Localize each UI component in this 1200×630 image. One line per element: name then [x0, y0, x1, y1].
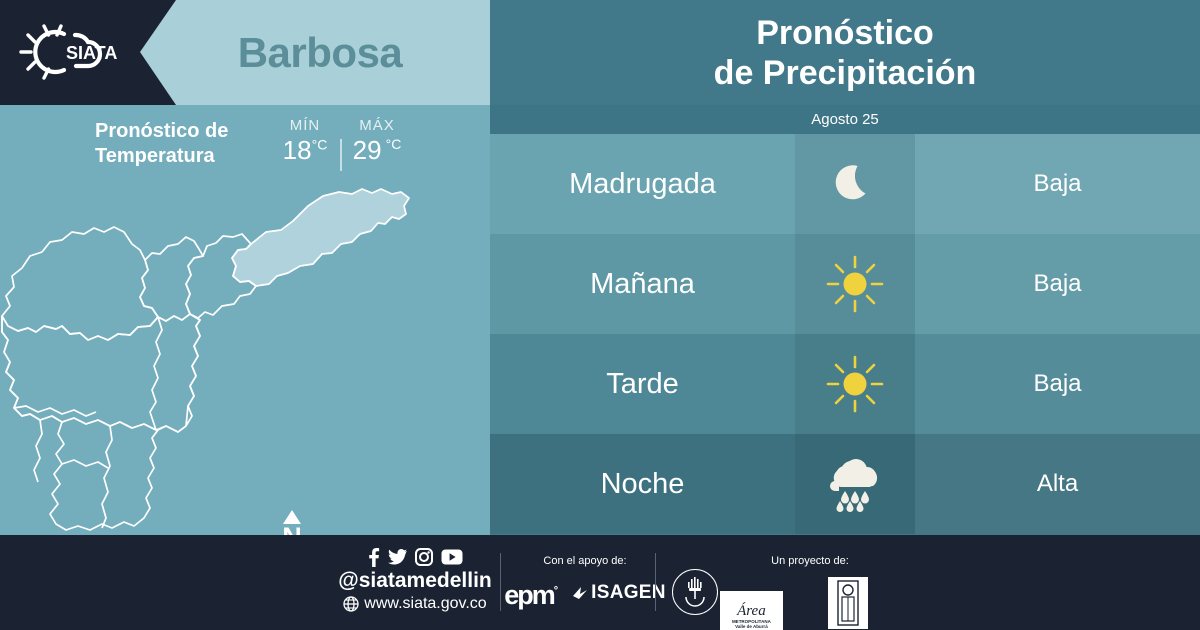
- temperature-title: Pronóstico de Temperatura: [95, 119, 275, 169]
- temperature-min-value-wrap: 18°C: [276, 135, 334, 166]
- footer-divider-1: [500, 553, 501, 611]
- page-title: Barbosa: [150, 0, 490, 105]
- row-probability: Baja: [915, 134, 1200, 234]
- row-period-label: Madrugada: [490, 134, 795, 234]
- map-internal-line-4: [34, 420, 42, 482]
- row-icon-cell: [795, 134, 915, 234]
- rain-icon: [823, 453, 887, 515]
- globe-icon: [343, 596, 359, 612]
- map-region-itagui: [2, 316, 62, 422]
- seal-inner-icon: [673, 570, 717, 614]
- sun-icon: [824, 353, 886, 415]
- alcaldia-crest-inner: [828, 577, 868, 629]
- website-label: www.siata.gov.co: [364, 594, 486, 614]
- udem-seal-block: [665, 555, 725, 615]
- siata-logo-text: SIATA: [66, 43, 117, 63]
- map-internal-line-2: [62, 418, 156, 430]
- sun-arc: [35, 32, 64, 72]
- map-region-bello: [2, 227, 158, 340]
- moon-icon: [826, 155, 884, 213]
- amva-label: Área: [737, 604, 766, 619]
- map-internal-line-7: [150, 317, 162, 430]
- footer-divider-2: [655, 553, 656, 611]
- table-row: Madrugada Baja: [490, 134, 1200, 234]
- support-logos: epm° ISAGEN: [505, 577, 665, 609]
- precipitation-panel: Pronóstico de Precipitación Agosto 25 Ma…: [490, 0, 1200, 535]
- row-icon-cell: [795, 334, 915, 434]
- precipitation-title-line1: Pronóstico: [756, 13, 934, 53]
- social-block: @siatamedellin www.siata.gov.co: [330, 547, 500, 614]
- temperature-title-line1: Pronóstico de: [95, 120, 228, 142]
- social-icons: [330, 547, 500, 567]
- north-arrow: N: [277, 510, 307, 535]
- alcaldia-crest-icon: [828, 577, 868, 629]
- temperature-title-line2: Temperatura: [95, 145, 215, 167]
- isagen-mark-icon: [572, 585, 588, 601]
- temperature-min-unit: °C: [312, 136, 328, 152]
- forecast-table: Madrugada Baja Mañana: [490, 134, 1200, 535]
- aburra-valley-map: N: [0, 180, 470, 535]
- website-row[interactable]: www.siata.gov.co: [330, 594, 500, 614]
- footer: @siatamedellin www.siata.gov.co Con el a…: [0, 535, 1200, 630]
- left-panel: SIATA Barbosa Pronóstico de Temperatura …: [0, 0, 490, 535]
- support-block: Con el apoyo de: epm° ISAGEN: [505, 555, 665, 609]
- map-internal-line-6: [186, 314, 200, 426]
- precipitation-header: Pronóstico de Precipitación: [490, 0, 1200, 105]
- table-row: Mañana: [490, 234, 1200, 334]
- temperature-min-value: 18: [283, 135, 312, 165]
- row-period-label: Tarde: [490, 334, 795, 434]
- temperature-max-value-wrap: 29°C: [348, 135, 406, 166]
- map-region-copacabana: [140, 237, 203, 321]
- project-title: Un proyecto de:: [720, 555, 900, 567]
- temperature-divider: [340, 139, 342, 171]
- project-block: Un proyecto de: Área METROPOLITANA Valle…: [720, 555, 900, 630]
- epm-label: epm: [504, 580, 554, 610]
- table-row: Noche: [490, 434, 1200, 534]
- sun-icon: [824, 253, 886, 315]
- north-arrow-label: N: [277, 524, 307, 535]
- temperature-max-label: MÁX: [348, 117, 406, 134]
- temperature-max: MÁX 29°C: [348, 117, 406, 166]
- map-svg: [0, 180, 470, 535]
- temperature-min-label: MÍN: [276, 117, 334, 134]
- forecast-date: Agosto 25: [490, 105, 1200, 134]
- temperature-max-unit: °C: [386, 136, 402, 152]
- epm-sup: °: [554, 585, 558, 597]
- row-probability: Alta: [915, 434, 1200, 534]
- map-internal-line-1: [102, 426, 112, 528]
- precipitation-title-line2: de Precipitación: [714, 53, 977, 93]
- facebook-icon[interactable]: [367, 548, 380, 567]
- universidad-de-medellin-seal-icon: [672, 569, 718, 615]
- row-period-label: Noche: [490, 434, 795, 534]
- weather-forecast-infographic: SIATA Barbosa Pronóstico de Temperatura …: [0, 0, 1200, 630]
- row-period-label: Mañana: [490, 234, 795, 334]
- twitter-icon[interactable]: [388, 549, 407, 566]
- map-boundary-south-a: [50, 422, 186, 530]
- epm-logo: epm°: [504, 577, 558, 609]
- social-handle[interactable]: @siatamedellin: [330, 568, 500, 594]
- row-probability: Baja: [915, 234, 1200, 334]
- row-icon-cell: [795, 234, 915, 334]
- row-probability: Baja: [915, 334, 1200, 434]
- area-metropolitana-logo: Área METROPOLITANA Valle de Aburrá: [720, 591, 783, 630]
- amva-sub2: Valle de Aburrá: [735, 624, 768, 629]
- support-title: Con el apoyo de:: [505, 555, 665, 567]
- siata-logo-arrow-tip: [140, 0, 176, 105]
- sun-cloud-icon: SIATA: [14, 18, 132, 86]
- instagram-icon[interactable]: [415, 548, 433, 566]
- temperature-block: Pronóstico de Temperatura MÍN 18°C MÁX 2…: [0, 105, 490, 190]
- temperature-max-value: 29: [353, 135, 382, 165]
- youtube-icon[interactable]: [441, 549, 463, 565]
- map-internal-line-5: [62, 460, 108, 468]
- project-logos: Área METROPOLITANA Valle de Aburrá Alcal…: [720, 577, 900, 630]
- table-row: Tarde: [490, 334, 1200, 434]
- alcaldia-logo: Alcaldía de Medellín: [797, 577, 900, 630]
- temperature-values: MÍN 18°C MÁX 29°C: [276, 117, 406, 177]
- temperature-min: MÍN 18°C: [276, 117, 334, 166]
- map-region-barbosa: [232, 189, 409, 286]
- row-icon-cell: [795, 434, 915, 534]
- isagen-logo: ISAGEN: [572, 582, 666, 604]
